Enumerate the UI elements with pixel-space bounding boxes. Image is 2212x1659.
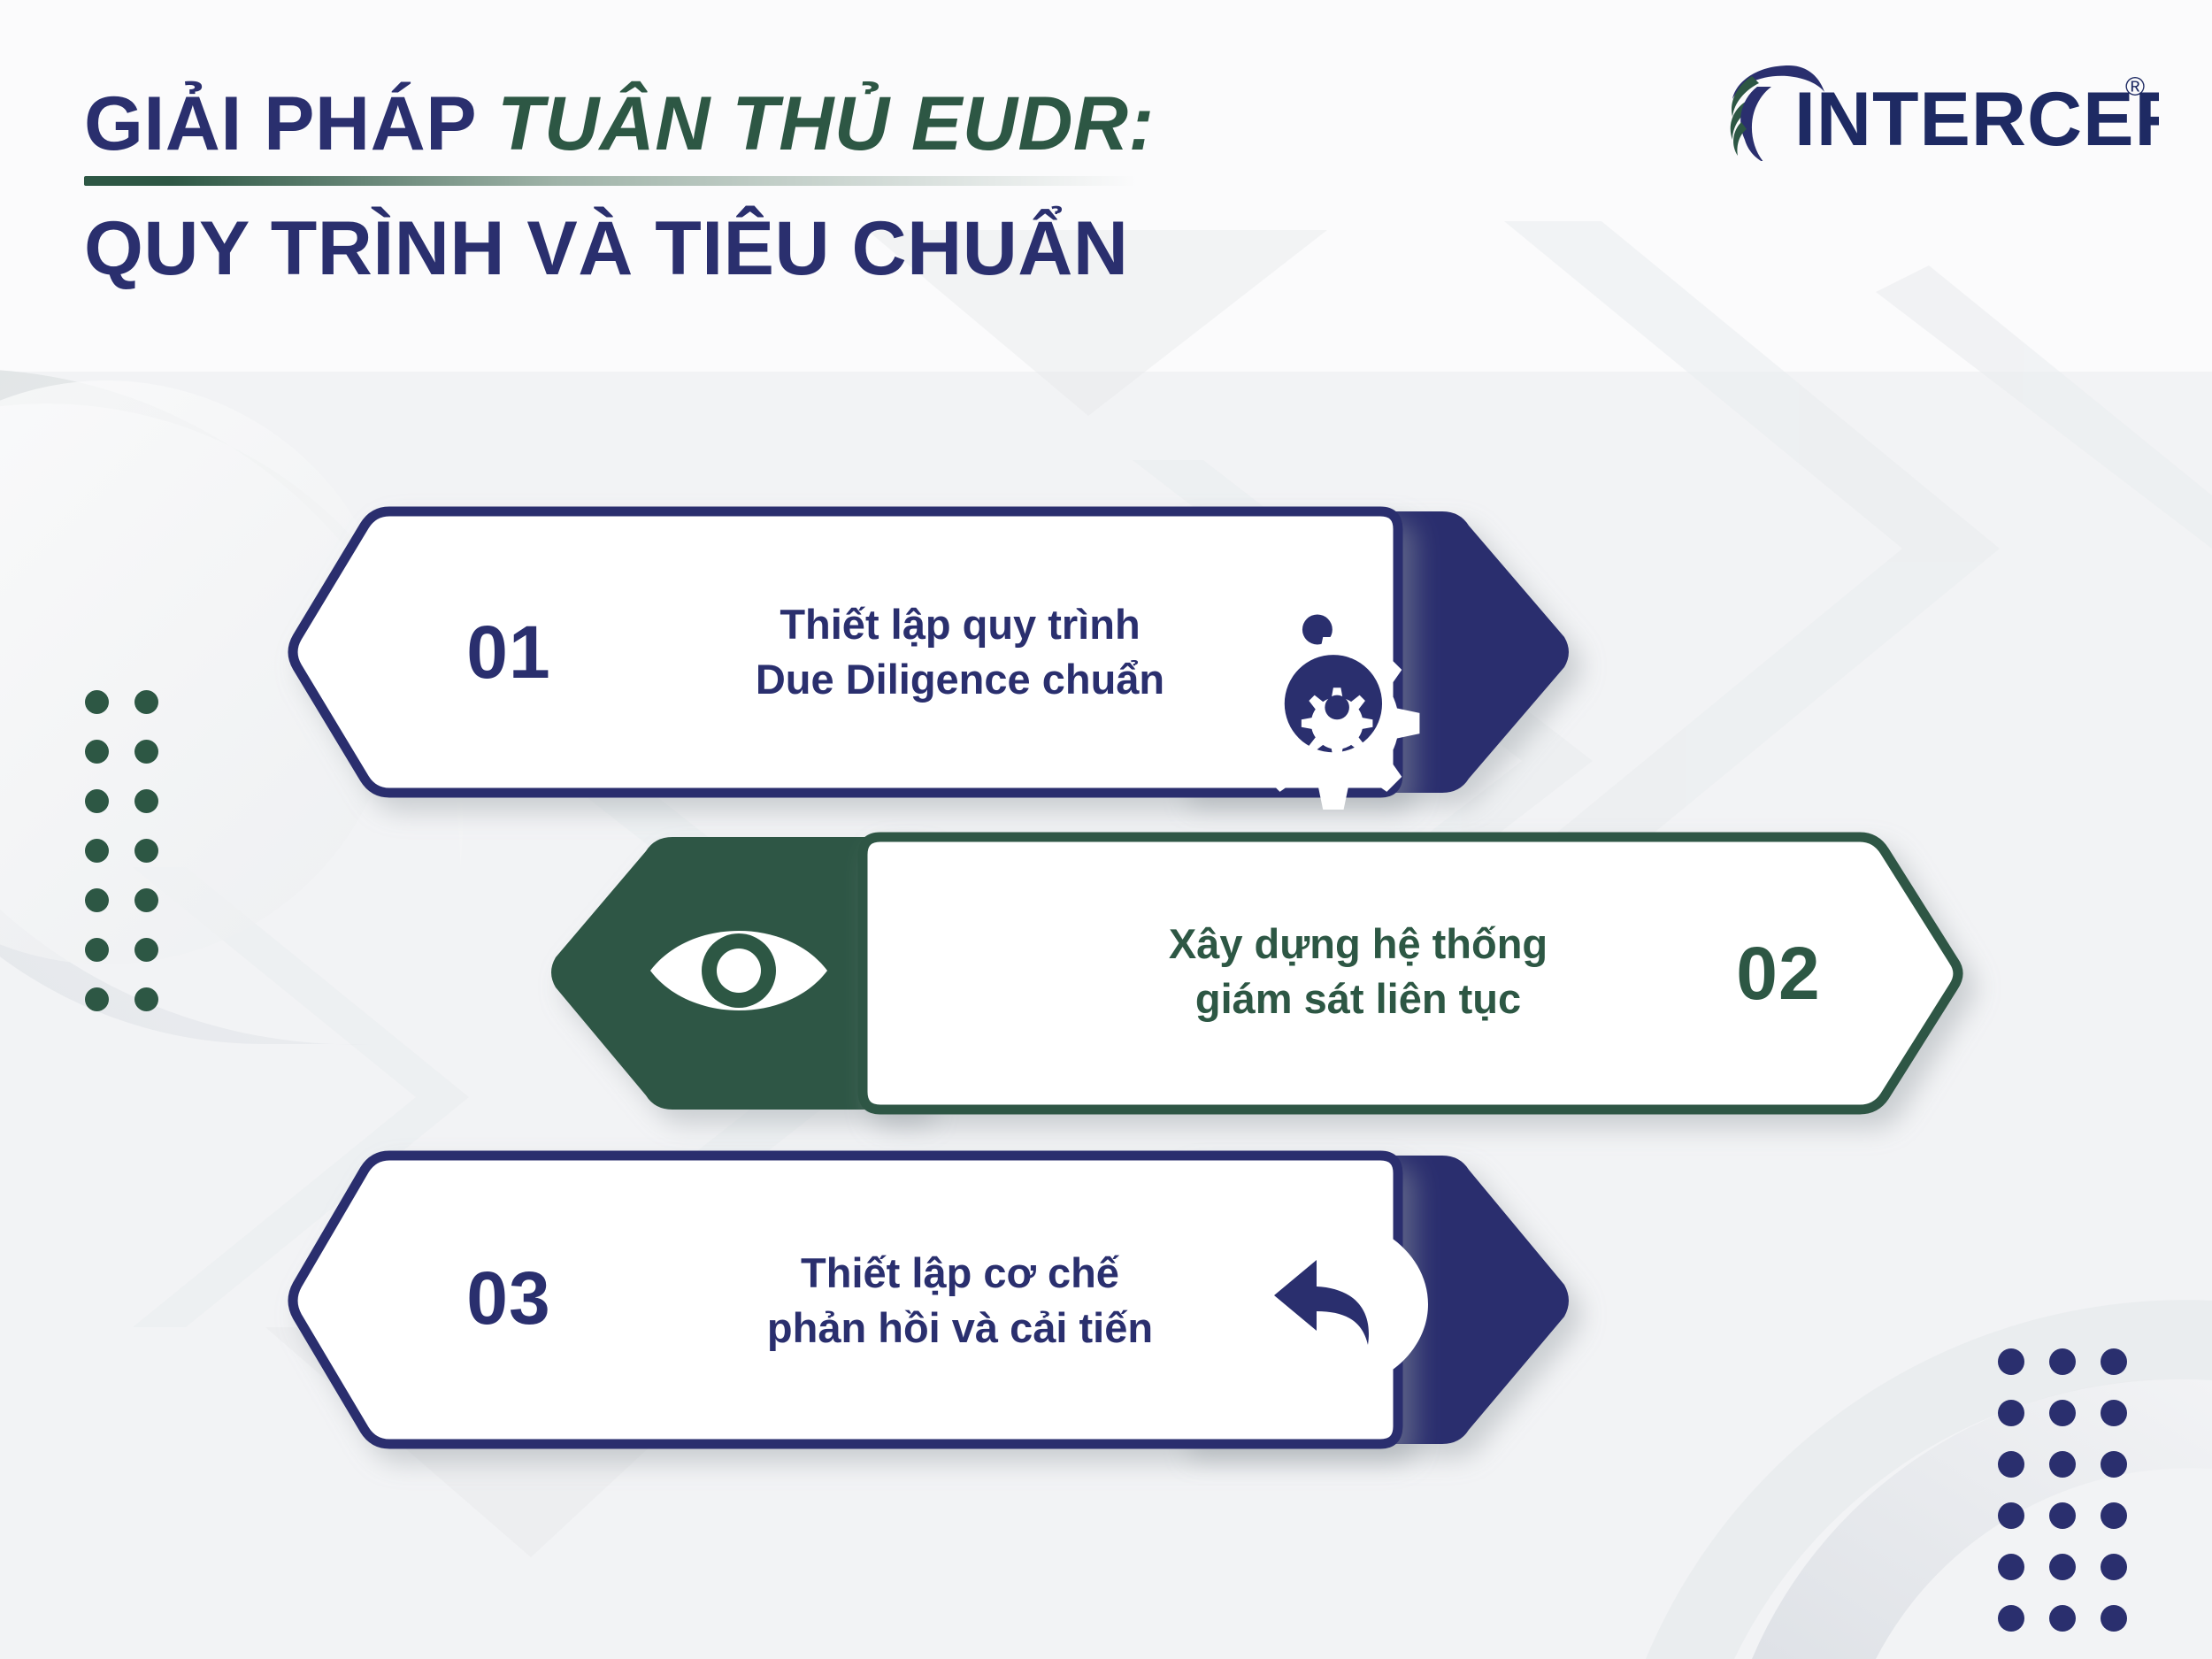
intercert-logo: INTERCERT ® xyxy=(1725,55,2159,161)
step-03-text: Thiết lập cơ chế phản hồi và cải tiến xyxy=(611,1239,1310,1363)
dot xyxy=(1998,1348,2024,1375)
dot xyxy=(134,938,158,962)
dot xyxy=(85,888,109,912)
dot xyxy=(2101,1605,2127,1632)
dot xyxy=(2101,1502,2127,1529)
logo-wordmark: INTERCERT xyxy=(1794,77,2159,161)
dot xyxy=(85,740,109,764)
dot xyxy=(134,888,158,912)
dot xyxy=(2101,1348,2127,1375)
dot xyxy=(1998,1400,2024,1426)
step-01-text: Thiết lập quy trình Due Diligence chuẩn xyxy=(611,590,1310,714)
dot xyxy=(134,740,158,764)
dot xyxy=(2049,1451,2076,1478)
step-card-02[interactable]: Xây dựng hệ thống giám sát liên tục 02 xyxy=(619,832,1964,1115)
dot xyxy=(134,789,158,813)
page-title-line1: GIẢI PHÁP TUÂN THỦ EUDR: xyxy=(84,84,1155,164)
dot xyxy=(134,987,158,1011)
logo-mark-and-wordmark: INTERCERT ® xyxy=(1725,55,2159,161)
dot xyxy=(134,839,158,863)
title-underline-accent xyxy=(84,176,1137,186)
dot xyxy=(2049,1400,2076,1426)
step-02-text-line2: giám sát liên tục xyxy=(1009,972,1708,1026)
dot xyxy=(2049,1605,2076,1632)
step-02-number: 02 xyxy=(1694,925,1863,1022)
step-03-number: 03 xyxy=(425,1249,593,1347)
step-01-text-line1: Thiết lập quy trình xyxy=(611,597,1310,652)
step-02-text-line1: Xây dựng hệ thống xyxy=(1009,917,1708,972)
page-title-line2: QUY TRÌNH VÀ TIÊU CHUẨN xyxy=(84,209,1155,288)
step-card-01[interactable]: 01 Thiết lập quy trình Due Diligence chu… xyxy=(292,506,1637,798)
dot xyxy=(85,839,109,863)
dot xyxy=(2049,1554,2076,1580)
page-header: GIẢI PHÁP TUÂN THỦ EUDR: QUY TRÌNH VÀ TI… xyxy=(0,0,2212,354)
dot xyxy=(85,690,109,714)
dot xyxy=(1998,1554,2024,1580)
step-card-03[interactable]: 03 Thiết lập cơ chế phản hồi và cải tiến xyxy=(292,1150,1637,1451)
step-03-text-line2: phản hồi và cải tiến xyxy=(611,1301,1310,1356)
dot xyxy=(2101,1451,2127,1478)
dot xyxy=(1998,1502,2024,1529)
title-block: GIẢI PHÁP TUÂN THỦ EUDR: QUY TRÌNH VÀ TI… xyxy=(84,84,1155,289)
dot xyxy=(1998,1605,2024,1632)
title-part-green: TUÂN THỦ EUDR: xyxy=(497,81,1155,166)
title-part-blue: GIẢI PHÁP xyxy=(84,81,497,166)
dot xyxy=(2049,1502,2076,1529)
dot xyxy=(1998,1451,2024,1478)
step-01-text-line2: Due Diligence chuẩn xyxy=(611,652,1310,707)
dot xyxy=(85,938,109,962)
dot xyxy=(2101,1400,2127,1426)
dot xyxy=(134,690,158,714)
decorative-dot-grid-right xyxy=(1998,1348,2152,1656)
step-01-number: 01 xyxy=(425,603,593,701)
dot xyxy=(2049,1348,2076,1375)
step-03-text-line1: Thiết lập cơ chế xyxy=(611,1246,1310,1301)
dot xyxy=(85,987,109,1011)
decorative-dot-grid-left xyxy=(85,690,184,1037)
step-02-text: Xây dựng hệ thống giám sát liên tục xyxy=(1009,910,1708,1033)
dot xyxy=(2101,1554,2127,1580)
dot xyxy=(85,789,109,813)
logo-registered-icon: ® xyxy=(2125,73,2145,102)
